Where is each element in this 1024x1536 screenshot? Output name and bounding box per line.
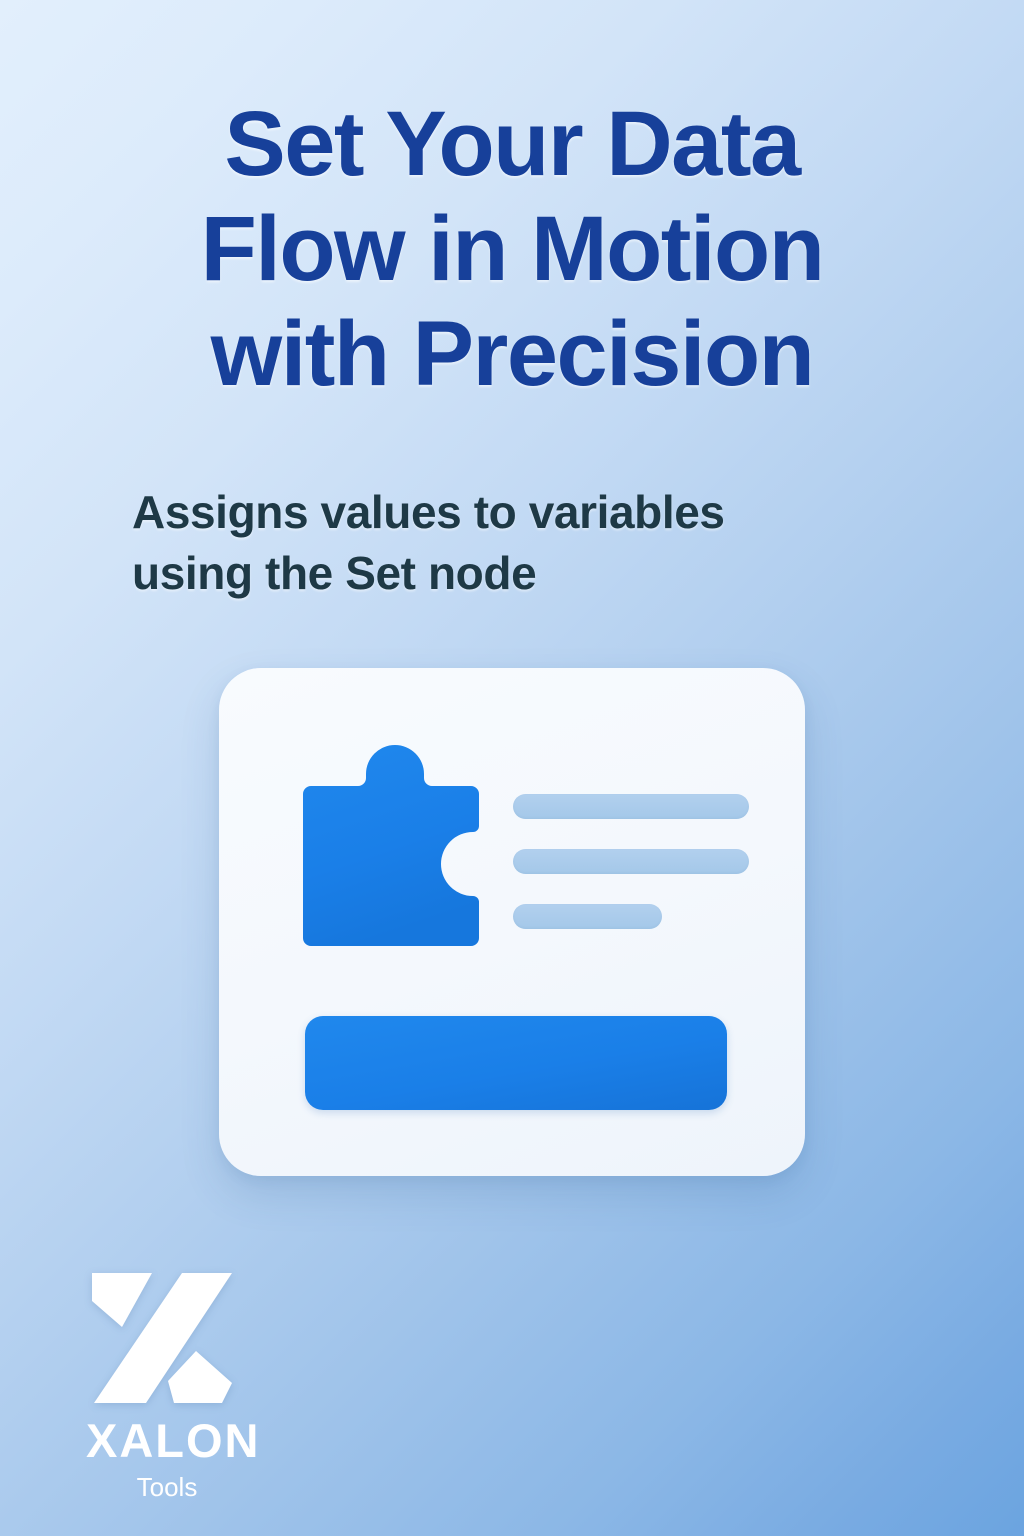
headline-line-1: Set Your Data — [64, 92, 960, 197]
puzzle-piece-icon — [303, 730, 479, 946]
illustration-card — [219, 668, 805, 1176]
headline-line-2: Flow in Motion — [64, 197, 960, 302]
poster-root: Set Your Data Flow in Motion with Precis… — [0, 0, 1024, 1536]
page-title: Set Your Data Flow in Motion with Precis… — [0, 92, 1024, 407]
subheadline-line-1: Assigns values to variables — [132, 482, 892, 543]
page-subtitle: Assigns values to variables using the Se… — [132, 482, 892, 604]
xalon-x-logo-icon — [84, 1261, 234, 1413]
brand-lockup: XALON Tools — [82, 1261, 322, 1500]
placeholder-line-stack — [513, 794, 749, 929]
brand-tagline: Tools — [82, 1474, 248, 1500]
placeholder-line-3 — [513, 904, 662, 929]
placeholder-line-1 — [513, 794, 749, 819]
brand-name: XALON — [82, 1417, 322, 1464]
primary-action-bar[interactable] — [305, 1016, 727, 1110]
placeholder-line-2 — [513, 849, 749, 874]
headline-line-3: with Precision — [64, 302, 960, 407]
subheadline-line-2: using the Set node — [132, 543, 892, 604]
